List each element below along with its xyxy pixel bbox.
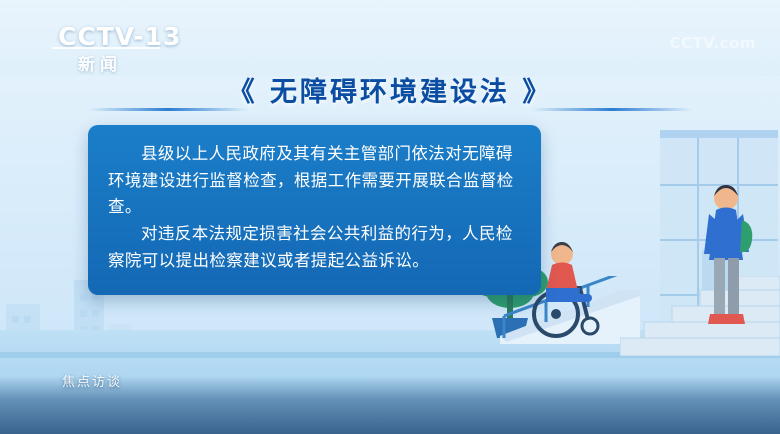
- title-underline-right: [532, 108, 692, 111]
- law-paragraph-2: 对违反本法规定损害社会公共利益的行为，人民检察院可以提出检察建议或者提起公益诉讼…: [108, 221, 521, 274]
- program-name-label: 焦点访谈: [62, 371, 122, 390]
- law-text-panel: 县级以上人民政府及其有关主管部门依法对无障碍环境建设进行监督检查，根据工作需要开…: [88, 125, 541, 295]
- standing-person-icon: [694, 178, 760, 338]
- page-title: 《 无障碍环境建设法 》: [0, 70, 780, 109]
- channel-logo-rule: [52, 47, 160, 49]
- title-underline-left: [88, 108, 248, 111]
- video-frame: CCTV-13 新闻 CCTV.com 《 无障碍环境建设法 》 县级以上人民政…: [0, 0, 780, 434]
- watermark-label: CCTV.com: [670, 34, 756, 52]
- law-paragraph-1: 县级以上人民政府及其有关主管部门依法对无障碍环境建设进行监督检查，根据工作需要开…: [108, 141, 521, 221]
